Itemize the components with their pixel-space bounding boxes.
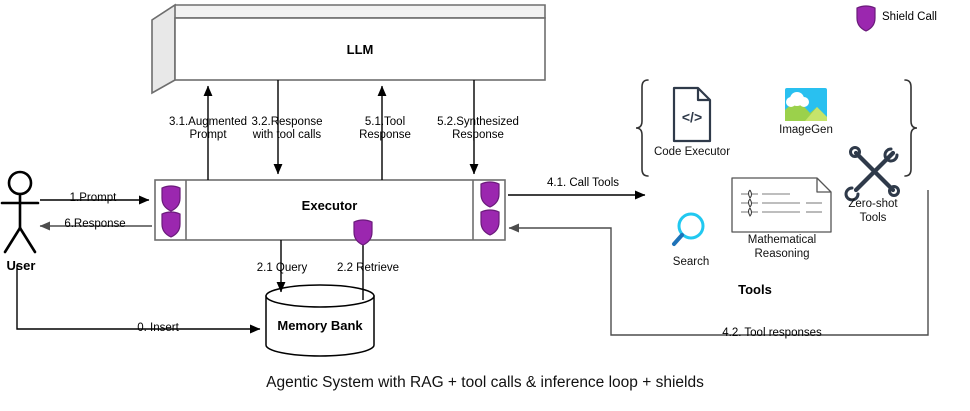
edge-label-insert: 0. Insert [93, 322, 223, 335]
magnifier-icon [674, 214, 703, 244]
tool-label-search: Search [658, 256, 724, 270]
llm-label: LLM [175, 42, 545, 57]
shield-icon-tools-out [481, 182, 499, 207]
shield-icon-executor-out [162, 212, 180, 237]
tool-label-mathematical-reasoning: Mathematical Reasoning [726, 234, 838, 261]
shield-icon-legend [857, 6, 875, 31]
edge-label-prompt: 1.Prompt [45, 192, 141, 205]
user-actor-icon [2, 172, 38, 252]
edge-label-tool-responses: 4.2. Tool responses [662, 327, 882, 340]
tools-brace-left [636, 80, 648, 176]
edge-label-query: 2.1 Query [238, 262, 326, 275]
memory-bank-label: Memory Bank [266, 318, 374, 333]
edge-label-synthesized-response: 5.2.Synthesized Response [423, 116, 533, 142]
shield-icon-memory [354, 220, 372, 245]
crossed-wrenches-icon [846, 148, 899, 201]
tool-label-code-executor: Code Executor [640, 146, 744, 160]
edge-label-response: 6.Response [45, 218, 145, 231]
edge-label-response-with-tool-calls: 3.2.Response with tool calls [232, 116, 342, 142]
tools-group-label: Tools [700, 282, 810, 297]
shield-icon-tools-in [481, 210, 499, 235]
edge-label-retrieve: 2.2 Retrieve [324, 262, 412, 275]
shield-icon-executor-in [162, 186, 180, 211]
edge-insert [17, 265, 260, 329]
formula-page-icon [732, 178, 831, 232]
edge-label-tool-response: 5.1.Tool Response [340, 116, 430, 142]
diagram-canvas: </> [0, 0, 970, 411]
user-label: User [0, 258, 42, 273]
code-file-icon: </> [674, 88, 710, 141]
executor-label: Executor [186, 198, 473, 213]
tool-label-imagegen: ImageGen [764, 124, 848, 138]
edge-label-call-tools: 4.1. Call Tools [528, 177, 638, 190]
tool-label-zero-shot-tools: Zero-shot Tools [838, 198, 908, 225]
diagram-caption: Agentic System with RAG + tool calls & i… [0, 374, 970, 392]
connector-layer: </> [0, 0, 970, 411]
image-icon [785, 88, 827, 121]
tools-brace-right [905, 80, 917, 176]
svg-text:</>: </> [682, 109, 702, 125]
legend-label: Shield Call [882, 11, 937, 23]
